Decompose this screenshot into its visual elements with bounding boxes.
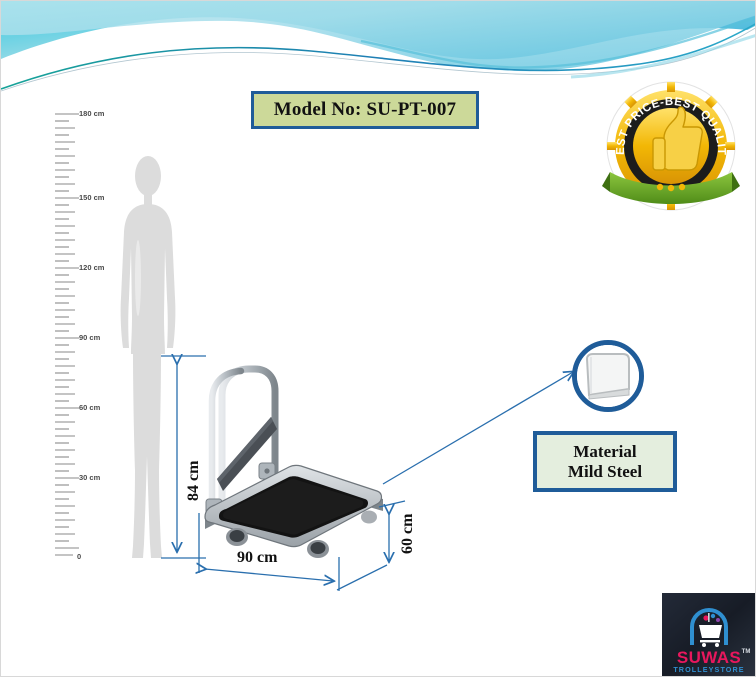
best-price-best-quality-badge: BEST PRICE-BEST QUALITY xyxy=(602,80,740,214)
material-value: Mild Steel xyxy=(568,462,642,482)
model-number-box: Model No: SU-PT-007 xyxy=(251,91,479,129)
ruler-tick-120: 120 cm xyxy=(79,263,104,272)
material-heading: Material xyxy=(573,442,636,462)
ruler-tick-60: 60 cm xyxy=(79,403,100,412)
model-number-label: Model No: SU-PT-007 xyxy=(274,99,457,121)
ruler-tick-30: 30 cm xyxy=(79,473,100,482)
logo-trademark: TM xyxy=(742,649,751,655)
scale-reference-person xyxy=(105,148,191,566)
dimension-depth-label: 60 cm xyxy=(399,514,417,554)
ruler-tick-180: 180 cm xyxy=(79,109,104,118)
platform-trolley-image xyxy=(197,359,387,561)
company-logo: SUWAS TM TROLLEYSTORE xyxy=(662,593,756,677)
material-info-box: Material Mild Steel xyxy=(533,431,677,492)
ruler-tick-150: 150 cm xyxy=(79,193,104,202)
ruler-tick-0: 0 xyxy=(77,552,81,561)
material-magnifier-circle xyxy=(572,340,644,412)
logo-tagline-text: TROLLEYSTORE xyxy=(673,665,744,674)
ruler-tick-90: 90 cm xyxy=(79,333,100,342)
product-spec-page: Model No: SU-PT-007 xyxy=(0,0,756,677)
